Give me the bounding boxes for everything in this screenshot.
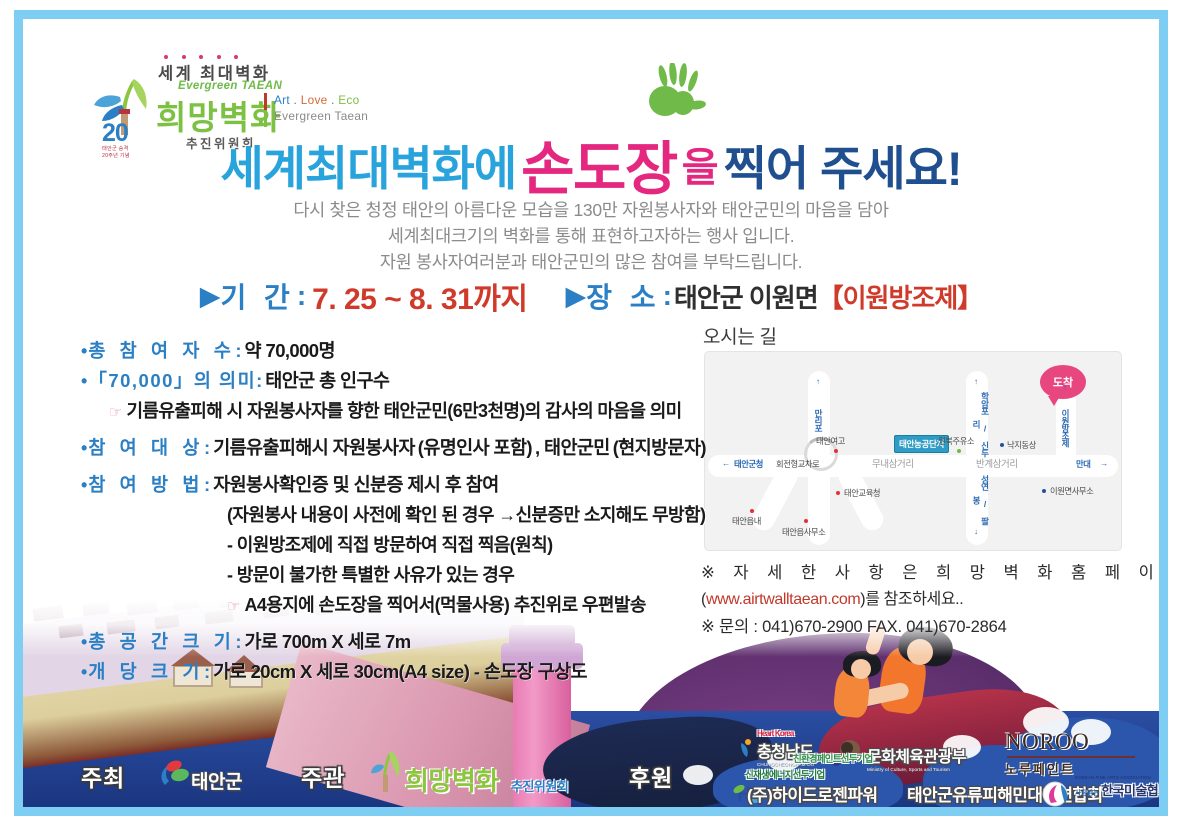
map-north-arrow-icon: ↑ xyxy=(974,377,978,386)
map-label-taean-girls-highschool: 태안여고 xyxy=(816,435,845,447)
map-vroad-label-iwonbangjoje: 이원방조제 xyxy=(1061,395,1070,461)
note-line-1: ※ 자 세 한 사 항 은 희 망 벽 화 홈 페 이 지 xyxy=(701,559,1151,583)
sponsor-name-english: Ministry of Culture, Sports and Tourism xyxy=(867,767,966,772)
organizer-sub: 추진위원회 xyxy=(511,776,568,795)
headline-part1: 세계최대벽화에 xyxy=(220,130,516,199)
place-highlight: 【이원방조제】 xyxy=(818,278,983,315)
pointing-hand-icon: ☞ xyxy=(109,404,122,421)
bullet-dot-icon: • xyxy=(81,632,87,652)
sponsor-name: 한국미술협회 xyxy=(1101,780,1159,799)
event-info-banner: ▶기 간:7. 25 ~ 8. 31까지▶장 소:태안군 이원면 【이원방조제】 xyxy=(23,274,1159,318)
how-to-join-sub-1: (자원봉사 내용이 사전에 확인 된 경우 →신분증만 소지해도 무방함) xyxy=(81,501,741,527)
list-item-eligibility: •참 여 대 상:기름유출피해시 자원봉사자(유명인사 포함), 태안군민(현지… xyxy=(81,434,741,460)
period-label: 기 간 xyxy=(221,276,295,316)
headline-part3: 을 xyxy=(682,135,718,193)
item-colon: : xyxy=(204,474,210,495)
sub-text: - 이원방조제에 직접 방문하여 직접 찍음(원칙) xyxy=(227,535,552,555)
subtitle-line-3: 자원 봉사자여러분과 태안군민의 많은 참여를 부탁드립니다. xyxy=(23,249,1159,275)
list-note-meaning: ☞기름유출피해 시 자원봉사자를 향한 태안군민(6만3천명)의 감사의 마음을… xyxy=(81,397,741,423)
map-label-bangye-junction: 반계삼거리 xyxy=(976,456,1018,470)
map-label-wonbuk-gas-station: 원북주유소 xyxy=(938,435,974,447)
organizer-name: 희망벽화 xyxy=(405,761,499,798)
how-to-join-sub-3: - 방문이 불가한 특별한 사유가 있는 경우 xyxy=(81,561,741,587)
map-label-taean-education-office: 태안교육청 xyxy=(844,487,880,499)
heart-korea-tagline: Heart Korea xyxy=(757,729,814,738)
slogan-dot: . xyxy=(328,93,339,107)
map-exit-right: 만대 xyxy=(1076,458,1090,470)
place-value: 태안군 이원면 xyxy=(674,278,818,315)
page-title: 세계최대벽화에손도장을찍어 주세요! xyxy=(23,122,1159,206)
item-value-note1: (유명인사 포함) xyxy=(418,437,532,458)
sub-text: (자원봉사 내용이 사전에 확인 된 경우 →신분증만 소지해도 무방함) xyxy=(227,505,705,525)
map-point-marker xyxy=(1000,443,1004,447)
period-value: 7. 25 ~ 8. 31까지 xyxy=(312,274,527,318)
slogan-dot: . xyxy=(290,93,301,107)
item-colon: : xyxy=(235,631,241,652)
item-value: 가로 700m X 세로 7m xyxy=(245,631,411,652)
note-text: A4용지에 손도장을 찍어서(먹물사용) 추진위로 우편발송 xyxy=(244,595,645,615)
map-point-marker xyxy=(836,491,840,495)
poster-content: 세계 최대벽화 Evergreen TAEAN 희망벽화 추진위원회 20 태안… xyxy=(23,19,1159,807)
sponsor-name: 문화체육관광부 xyxy=(867,743,966,767)
how-to-join-note: ☞A4용지에 손도장을 찍어서(먹물사용) 추진위로 우편발송 xyxy=(81,591,741,617)
hope-mural-logo-icon xyxy=(371,749,405,793)
host-name: 태안군 xyxy=(191,767,242,794)
spacer xyxy=(81,621,741,628)
bullet-dot-icon: • xyxy=(81,662,87,682)
slogan-eco: Eco xyxy=(338,93,359,107)
sponsor-logos: Heart Korea 충청남도 CHUNGCHEONGNAM-DO 문화체육관… xyxy=(723,713,1159,807)
list-item-unit-size: •개 당 크 기:가로 20cm X 세로 30cm(A4 size) - 손도… xyxy=(81,658,741,684)
sub-text: - 방문이 불가한 특별한 사유가 있는 경우 xyxy=(227,565,514,585)
map-exit-right-arrow: → xyxy=(1100,458,1108,468)
organizer-label: 주관 xyxy=(301,759,345,793)
item-value: 가로 20cm X 세로 30cm(A4 size) - 손도장 구상도 xyxy=(213,661,587,682)
item-colon: : xyxy=(204,437,210,458)
item-label: 총 참 여 자 수 xyxy=(88,340,235,361)
hydrogen-tagline: 신재생에너지선두기업 xyxy=(745,767,824,781)
item-value: 태안군 총 인구수 xyxy=(265,370,389,391)
note-text: 기름유출피해 시 자원봉사자를 향한 태안군민(6만3천명)의 감사의 마음을 … xyxy=(126,401,681,421)
green-handprint-icon xyxy=(647,63,709,127)
spacer xyxy=(81,427,741,434)
map-label-iwon-myeon-office: 이원면사무소 xyxy=(1050,485,1093,497)
item-label: 참 여 대 상 xyxy=(88,437,204,458)
sponsor-noroo-paint: 친환경페인트선두기업 NOROO 노루페인트 xyxy=(1005,729,1135,778)
chungcheongnamdo-logo-icon xyxy=(723,735,755,765)
map-destination-pin: 도착 xyxy=(1040,365,1086,399)
slogan-love: Love xyxy=(301,93,328,107)
subtitle-line-1: 다시 찾은 청정 태안의 아름다운 모습을 130만 자원봉사자와 태안군민의 … xyxy=(23,197,1159,223)
item-colon: : xyxy=(204,661,210,682)
bullet-dot-icon: • xyxy=(81,475,87,495)
mural-rider-face xyxy=(851,659,871,679)
logo-slogan-line2: Evergreen Taean xyxy=(274,109,368,123)
sponsor-label: 후원 xyxy=(629,759,673,793)
logo-slogan-line1: Art . Love . Eco xyxy=(274,93,359,107)
map-point-marker xyxy=(750,509,754,513)
item-label: 총 공 간 크 기 xyxy=(88,631,235,652)
map-label-taean-town-office: 태안읍사무소 xyxy=(782,526,825,538)
item-value-mid: , 태안군민 xyxy=(535,437,610,458)
map-vroad-label-seongyeon: 성연 / 팔봉 xyxy=(972,473,989,527)
map-point-marker xyxy=(804,519,808,523)
item-value-note2: (현지방문자) xyxy=(613,437,706,458)
details-list: •총 참 여 자 수:약 70,000명 •「70,000」의 의미:태안군 총… xyxy=(81,337,741,688)
bullet-dot-icon: • xyxy=(81,341,87,361)
bullet-triangle-icon: ▶ xyxy=(565,281,586,312)
taean-county-logo-icon xyxy=(151,757,191,789)
list-item-meaning: •「70,000」의 의미:태안군 총 인구수 xyxy=(81,367,741,393)
website-url[interactable]: www.airtwalltaean.com xyxy=(706,591,860,608)
how-to-join-sub-2: - 이원방조제에 직접 방문하여 직접 찍음(원칙) xyxy=(81,531,741,557)
noroo-underline xyxy=(1007,756,1135,758)
item-colon: : xyxy=(256,370,262,391)
item-colon: : xyxy=(235,340,241,361)
note-paren-close: )를 참조하세요.. xyxy=(860,591,963,608)
list-item-total-size: •총 공 간 크 기:가로 700m X 세로 7m xyxy=(81,628,741,654)
bullet-triangle-icon: ▶ xyxy=(200,281,221,312)
map-label-roundabout: 회전형교차로 xyxy=(776,458,819,470)
item-value: 약 70,000명 xyxy=(245,340,335,361)
slogan-art: Art xyxy=(274,93,290,107)
map-vroad-label-hakampo: 학암포 / 신두리 xyxy=(972,389,989,459)
map-label-munae-junction: 무내삼거리 xyxy=(872,456,914,470)
item-label: 개 당 크 기 xyxy=(88,661,204,682)
map-north-arrow-icon: ↑ xyxy=(1063,383,1067,392)
map-point-marker xyxy=(834,449,838,453)
bullet-dot-icon: • xyxy=(81,438,87,458)
map-north-arrow-icon: ↑ xyxy=(816,377,820,386)
headline-part4: 찍어 주세요! xyxy=(724,130,962,199)
map-point-marker xyxy=(957,449,961,453)
list-item-how-to-join: •참 여 방 법:자원봉사확인증 및 신분증 제시 후 참여 xyxy=(81,471,741,497)
map-label-nakji-statue: 낙지동상 xyxy=(1007,439,1036,451)
map-south-arrow-icon: ↓ xyxy=(974,527,978,536)
note-line-3-contact: ※ 문의 : 041)670-2900 FAX. 041)670-2864 xyxy=(701,613,1151,637)
poster-root: 세계 최대벽화 Evergreen TAEAN 희망벽화 추진위원회 20 태안… xyxy=(0,0,1182,826)
headline-part2: 손도장 xyxy=(521,122,677,206)
korean-fine-arts-logo-icon xyxy=(1041,779,1075,807)
period-colon: : xyxy=(297,280,306,312)
item-value-main: 기름유출피해시 자원봉사자 xyxy=(213,437,415,458)
subtitle-line-2: 세계최대크기의 벽화를 통해 표현하고자하는 행사 입니다. xyxy=(23,223,1159,249)
sponsor-name-hydrogen: (주)하이드로젠파워 xyxy=(747,781,877,806)
sponsor-korean-fine-arts: KOREAN FINE ARTS ASSOCIATION 사랑받는 한국미술협회 xyxy=(1075,775,1159,799)
note-line-2: (www.airtwalltaean.com)를 참조하세요.. xyxy=(701,585,1151,609)
item-value: 자원봉사확인증 및 신분증 제시 후 참여 xyxy=(213,474,498,495)
subtitle-block: 다시 찾은 청정 태안의 아름다운 모습을 130만 자원봉사자와 태안군민의 … xyxy=(23,197,1159,275)
item-label: 참 여 방 법 xyxy=(88,474,204,495)
host-label: 주최 xyxy=(81,759,125,793)
sponsor-hydrogen-power: 신재생에너지선두기업 xyxy=(745,767,824,781)
logo-decorative-dots xyxy=(164,55,238,59)
bullet-dot-icon: • xyxy=(81,371,87,391)
pointing-hand-icon: ☞ xyxy=(227,598,240,615)
place-label: 장 소 xyxy=(586,276,660,316)
footer-notes: ※ 자 세 한 사 항 은 희 망 벽 화 홈 페 이 지 (www.airtw… xyxy=(701,559,1151,637)
directions-map[interactable]: 도착 ↑ ↑ ↑ ↓ 만리포 학암포 / 신두리 이원방조제 성연 / 팔봉 ←… xyxy=(704,351,1122,551)
sponsor-ministry-culture: 문화체육관광부 Ministry of Culture, Sports and … xyxy=(867,743,966,772)
list-item-total-participants: •총 참 여 자 수:약 70,000명 xyxy=(81,337,741,363)
noroo-brand-wordmark: NOROO xyxy=(1005,729,1135,755)
item-label: 「70,000」의 의미 xyxy=(88,370,256,391)
spacer xyxy=(81,464,741,471)
place-colon: : xyxy=(663,280,672,312)
map-point-marker xyxy=(1042,489,1046,493)
noroo-tagline: 친환경페인트선두기업 xyxy=(793,751,872,765)
sponsor-prefix: 사랑받는 xyxy=(1075,787,1099,797)
